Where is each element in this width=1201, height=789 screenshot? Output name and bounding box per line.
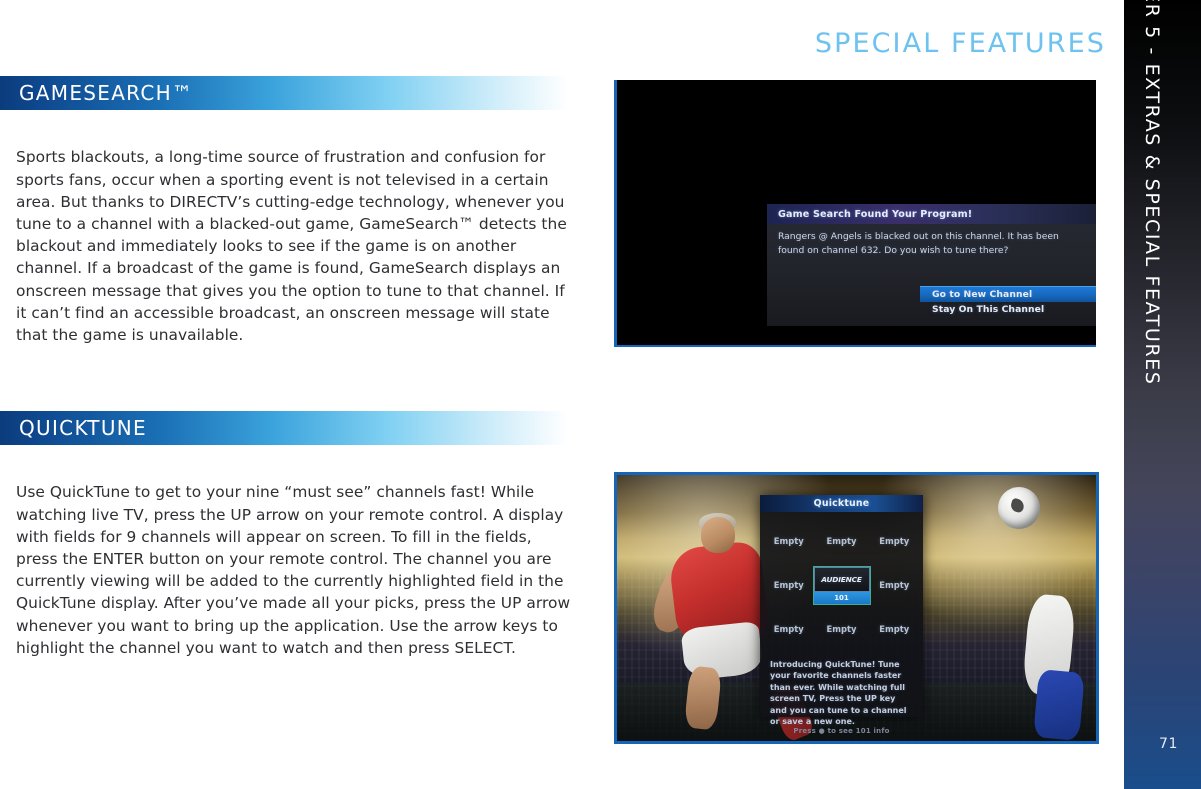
- quicktune-cell-4[interactable]: Empty: [774, 580, 804, 590]
- gamesearch-dialog-title: Game Search Found Your Program!: [767, 209, 972, 220]
- gamesearch-option-go-to-new-channel[interactable]: Go to New Channel: [920, 286, 1096, 302]
- quicktune-dialog-titlebar: Quicktune: [760, 495, 923, 512]
- chapter-label: CHAPTER 5 - EXTRAS & SPECIAL FEATURES: [1141, 0, 1163, 386]
- content-column: GAMESEARCH™ Sports blackouts, a long-tim…: [0, 0, 600, 789]
- quicktune-cell-6[interactable]: Empty: [879, 580, 909, 590]
- quicktune-cell-5-selected[interactable]: AUDIENCE 101: [813, 566, 871, 605]
- quicktune-cell-2[interactable]: Empty: [827, 536, 857, 546]
- section-header-quicktune: QUICKTUNE: [0, 411, 568, 445]
- screenshot-quicktune: Quicktune Empty Empty Empty Empty AUDIEN…: [614, 472, 1099, 744]
- quicktune-cell-3[interactable]: Empty: [879, 536, 909, 546]
- quicktune-dialog-title: Quicktune: [814, 498, 870, 509]
- quicktune-dialog: Quicktune Empty Empty Empty Empty AUDIEN…: [760, 495, 923, 717]
- quicktune-cell-9[interactable]: Empty: [879, 624, 909, 634]
- quicktune-cell-7[interactable]: Empty: [774, 624, 804, 634]
- section-body-gamesearch: Sports blackouts, a long-time source of …: [16, 146, 572, 346]
- soccer-ball: [998, 487, 1040, 529]
- quicktune-cell-8[interactable]: Empty: [827, 624, 857, 634]
- gamesearch-option-list: Go to New Channel Stay On This Channel: [920, 286, 1096, 317]
- page-number: 71: [1159, 736, 1178, 752]
- quicktune-channel-grid: Empty Empty Empty Empty AUDIENCE 101 Emp…: [760, 512, 923, 657]
- chapter-sidebar: CHAPTER 5 - EXTRAS & SPECIAL FEATURES 71: [1124, 0, 1201, 789]
- player-right-sock: [1033, 669, 1085, 741]
- gamesearch-option-stay-on-this-channel[interactable]: Stay On This Channel: [920, 302, 1096, 317]
- audience-channel-logo: AUDIENCE: [814, 567, 870, 592]
- section-body-quicktune: Use QuickTune to get to your nine “must …: [16, 481, 572, 659]
- quicktune-cell-1[interactable]: Empty: [774, 536, 804, 546]
- gamesearch-dialog-titlebar: Game Search Found Your Program!: [767, 204, 1096, 224]
- audience-logo-text: AUDIENCE: [821, 575, 861, 584]
- section-title-quicktune: QUICKTUNE: [0, 416, 147, 440]
- quicktune-description: Introducing QuickTune! Tune your favorit…: [760, 653, 923, 727]
- gamesearch-dialog: Game Search Found Your Program! Rangers …: [767, 204, 1096, 326]
- quicktune-active-channel-number: 101: [814, 592, 870, 604]
- section-title-gamesearch: GAMESEARCH™: [0, 81, 193, 105]
- player-left-head: [701, 517, 735, 553]
- section-header-gamesearch: GAMESEARCH™: [0, 76, 568, 110]
- gamesearch-dialog-message: Rangers @ Angels is blacked out on this …: [767, 224, 1096, 257]
- screenshot-gamesearch: Game Search Found Your Program! Rangers …: [614, 80, 1096, 347]
- quicktune-footer-hint: Press ● to see 101 info: [760, 727, 923, 735]
